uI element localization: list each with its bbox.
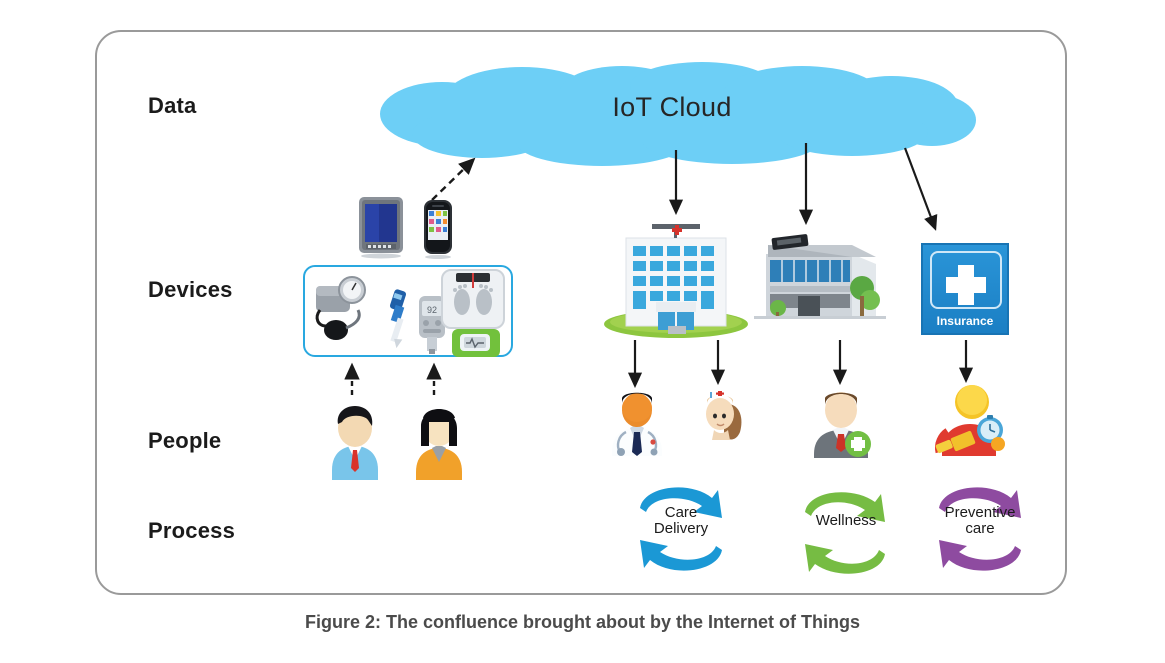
figure-container: Data Devices People Process IoT Cloud (0, 0, 1165, 663)
blood-pressure-monitor-icon (312, 272, 380, 350)
company-building-icon (752, 228, 892, 336)
wellness-professional-icon (806, 384, 876, 460)
hospital-icon (600, 216, 752, 338)
figure-caption: Figure 2: The confluence brought about b… (0, 612, 1165, 633)
person-female-patient-icon (404, 400, 474, 482)
arrow-cloud-to-insurance (905, 148, 935, 228)
svg-text:92: 92 (427, 305, 437, 315)
pulse-oximeter-icon (450, 325, 502, 359)
insurance-label: Insurance (923, 314, 1007, 328)
doctor-icon (604, 386, 670, 458)
nurse-icon (696, 384, 748, 446)
wellness-cycle (791, 484, 899, 584)
smartphone-icon (422, 198, 456, 260)
thermometer-icon (382, 288, 412, 350)
wellness-label: Wellness (791, 513, 901, 529)
tablet-icon (358, 196, 404, 258)
person-male-patient-icon (320, 400, 390, 482)
weighing-scale-icon (440, 268, 506, 330)
insurance-sign-icon: Insurance (921, 243, 1009, 335)
fitness-coach-icon (928, 380, 1008, 458)
arrow-devices-to-cloud (432, 160, 473, 200)
care-delivery-label: Care Delivery (626, 505, 736, 537)
cross-horizontal-icon (946, 277, 986, 293)
preventive-care-label: Preventive care (925, 505, 1035, 537)
insurance-cross-frame (930, 251, 1002, 309)
